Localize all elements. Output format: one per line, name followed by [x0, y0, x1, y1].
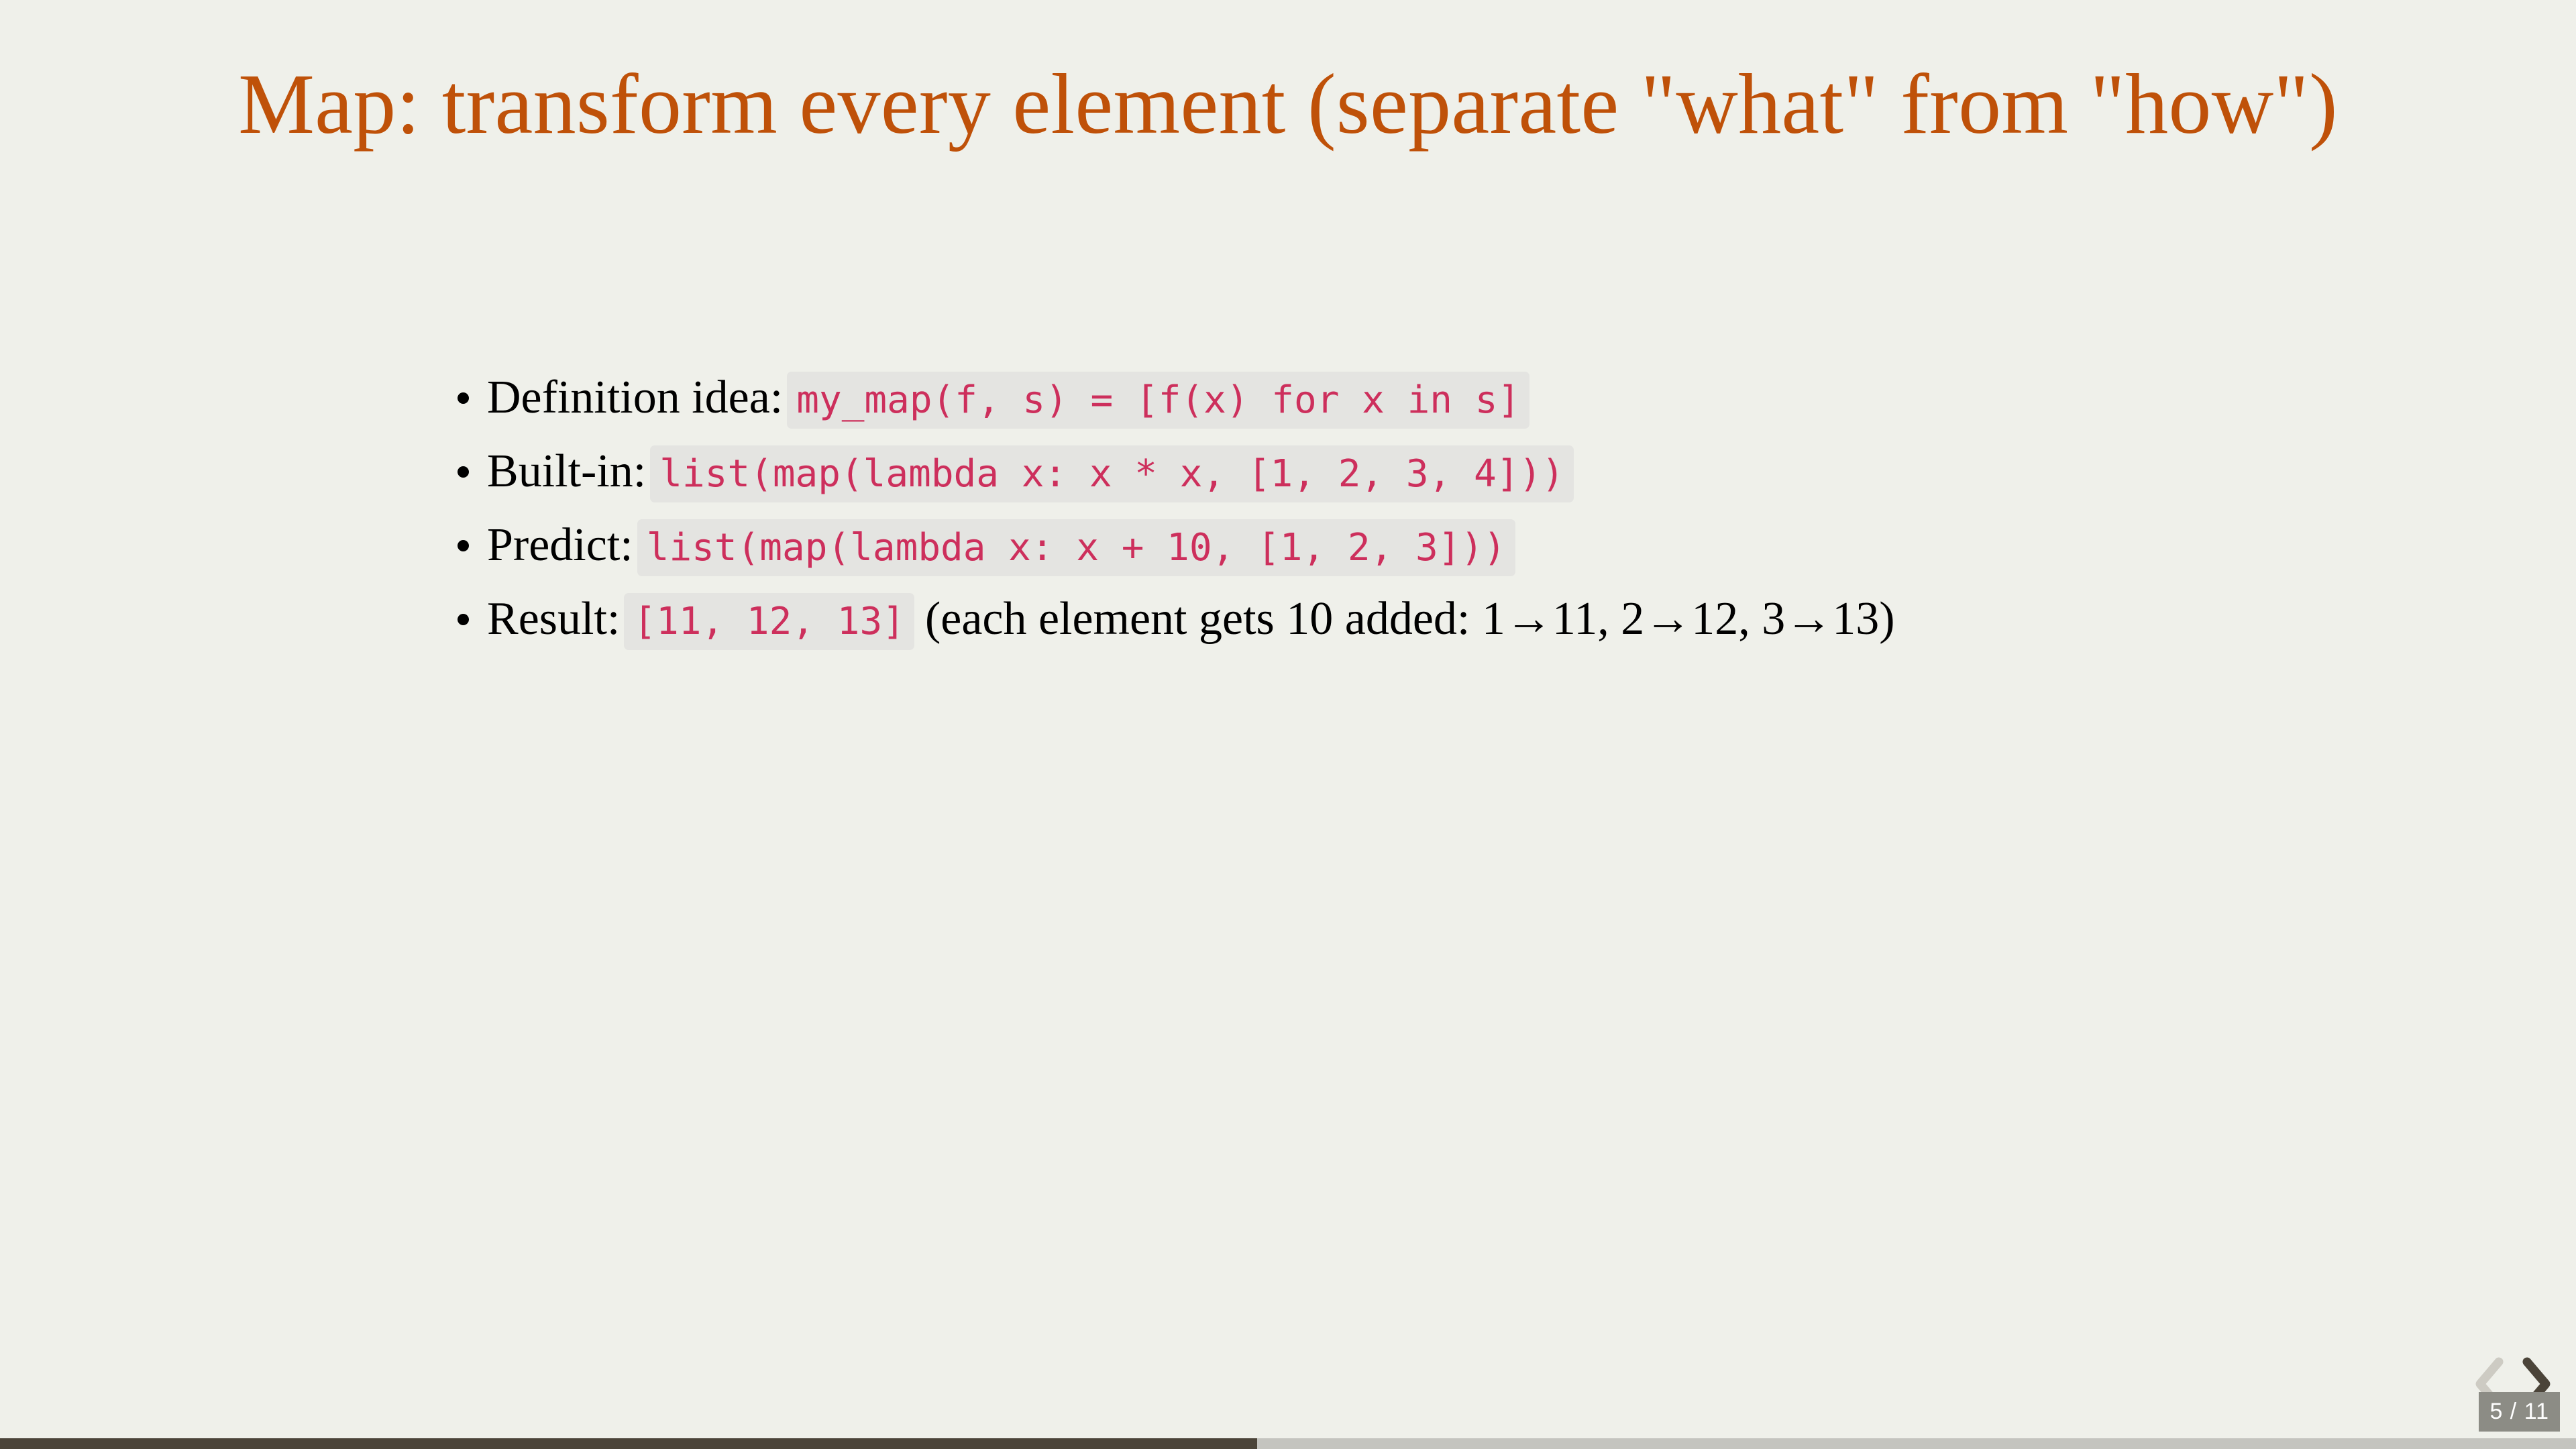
slide-content: Definition idea:my_map(f, s) = [f(x) for…: [443, 362, 2455, 657]
progress-bar-fill: [0, 1438, 1257, 1449]
bullet-label: Result:: [487, 593, 620, 645]
bullet-list: Definition idea:my_map(f, s) = [f(x) for…: [443, 362, 2455, 657]
slide-title: Map: transform every element (separate "…: [115, 48, 2461, 160]
list-item: Definition idea:my_map(f, s) = [f(x) for…: [443, 362, 2455, 436]
bullet-marker-icon: [458, 466, 469, 478]
inline-code-snippet: list(map(lambda x: x + 10, [1, 2, 3])): [637, 519, 1515, 576]
inline-code-snippet: my_map(f, s) = [f(x) for x in s]: [787, 372, 1529, 429]
bullet-marker-icon: [458, 614, 469, 625]
bullet-label: Predict:: [487, 519, 633, 571]
bullet-marker-icon: [458, 540, 469, 551]
list-item: Built-in:list(map(lambda x: x * x, [1, 2…: [443, 436, 2455, 510]
inline-code-snippet: list(map(lambda x: x * x, [1, 2, 3, 4])): [650, 445, 1574, 502]
bullet-label: Definition idea:: [487, 372, 783, 423]
page-indicator-badge: 5 / 11: [2479, 1392, 2560, 1432]
progress-bar-track[interactable]: [0, 1438, 2576, 1449]
list-item: Predict:list(map(lambda x: x + 10, [1, 2…: [443, 510, 2455, 584]
bullet-label: Built-in:: [487, 445, 646, 497]
list-item: Result:[11, 12, 13](each element gets 10…: [443, 584, 2455, 657]
inline-code-snippet: [11, 12, 13]: [624, 593, 914, 650]
bullet-note: (each element gets 10 added: 1→11, 2→12,…: [925, 593, 1895, 645]
bullet-marker-icon: [458, 392, 469, 404]
presentation-slide: Map: transform every element (separate "…: [0, 0, 2576, 1449]
